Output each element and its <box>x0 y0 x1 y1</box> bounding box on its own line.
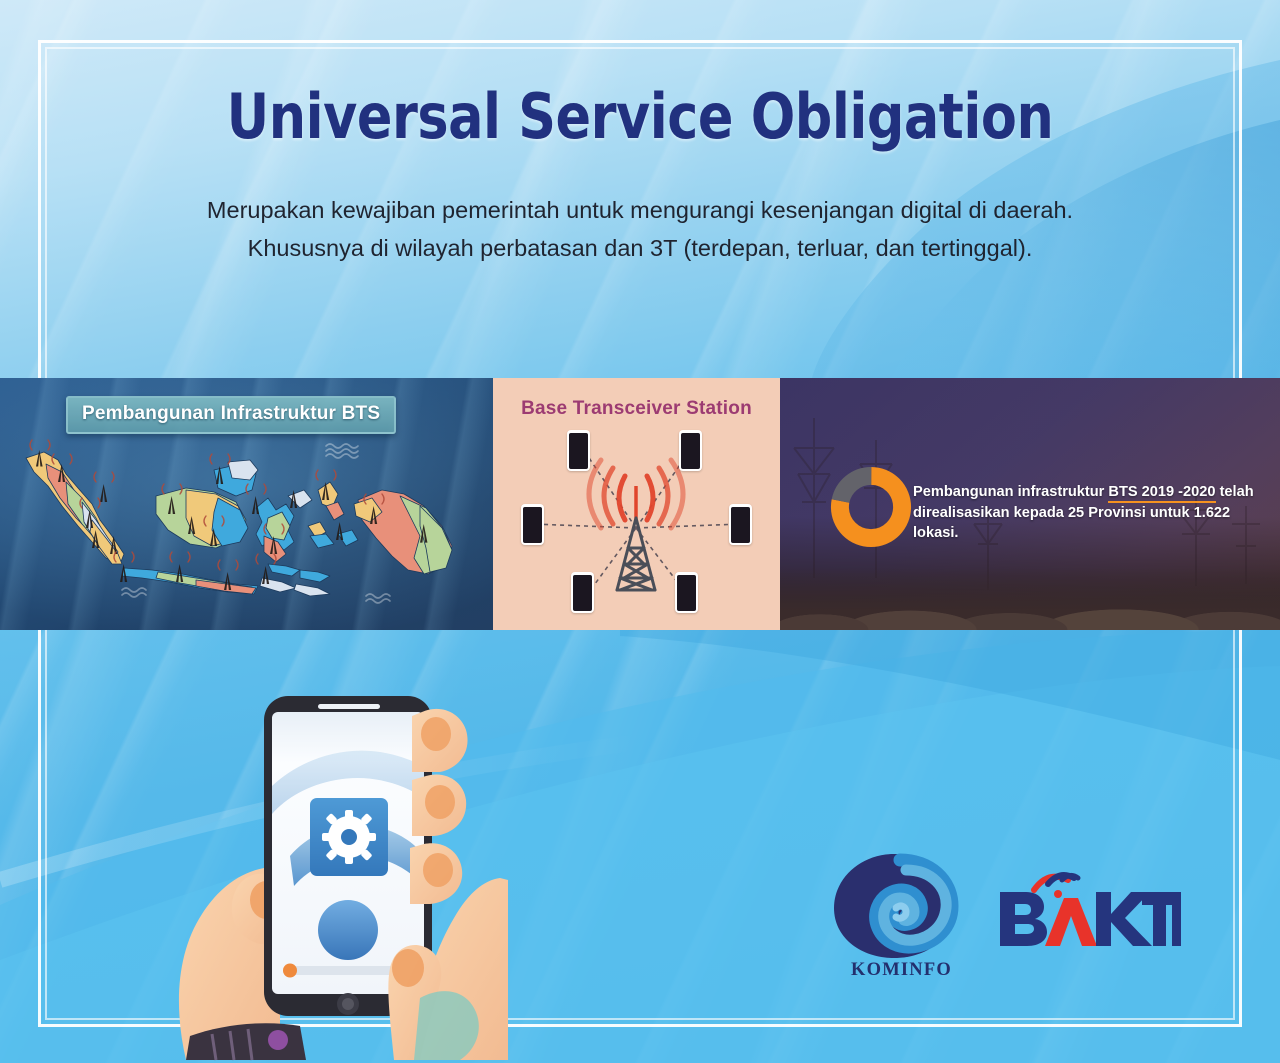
subtitle-line-1: Merupakan kewajiban pemerintah untuk men… <box>0 191 1280 229</box>
watch-face <box>268 1030 288 1050</box>
finger-nail <box>423 853 453 887</box>
donut-chart-svg <box>830 466 912 548</box>
slider-handle <box>283 964 297 978</box>
map-title-label: Pembangunan Infrastruktur BTS <box>66 396 396 434</box>
stat-text-highlight: BTS 2019 -2020 <box>1108 484 1215 503</box>
kominfo-logo <box>826 852 976 962</box>
subtitle-line-2: Khususnya di wilayah perbatasan dan 3T (… <box>0 229 1280 267</box>
finger-nail <box>421 717 451 751</box>
bakti-letter-i <box>1172 892 1181 946</box>
kominfo-wordmark: KOMINFO <box>834 960 969 981</box>
bakti-letter-b <box>1000 892 1047 946</box>
treeline-silhouette <box>780 568 1280 630</box>
bakti-logo <box>996 868 1181 948</box>
phone-icon <box>571 572 594 613</box>
poster-subtitle: Merupakan kewajiban pemerintah untuk men… <box>0 191 1280 267</box>
bts-stat-text: Pembangunan infrastruktur BTS 2019 -2020… <box>913 482 1258 544</box>
phone-speaker <box>318 704 380 709</box>
hand-holding-phone-illustration <box>168 668 508 1063</box>
poster-canvas: Universal Service Obligation Merupakan k… <box>0 0 1280 1063</box>
logo-bar: KOMINFO <box>818 852 1198 992</box>
bakti-signal-icon <box>1034 875 1078 898</box>
panel-bts-statistics: Pembangunan infrastruktur BTS 2019 -2020… <box>780 378 1280 630</box>
phone-icon <box>729 504 752 545</box>
poster-header: Universal Service Obligation Merupakan k… <box>0 84 1280 267</box>
stat-text-part1: Pembangunan infrastruktur <box>913 484 1108 500</box>
donut-chart <box>830 466 912 553</box>
page-title: Universal Service Obligation <box>38 84 1241 149</box>
finger-nail <box>425 785 455 819</box>
sleeve <box>414 991 479 1060</box>
index-finger-nail <box>392 949 424 987</box>
image-strip: Pembangunan Infrastruktur BTS Base Trans… <box>0 378 1280 630</box>
donut-slice-sisa <box>840 476 902 538</box>
panel-infrastructure-map: Pembangunan Infrastruktur BTS <box>0 378 493 630</box>
gear-icon <box>322 810 376 864</box>
phone-icon <box>567 430 590 471</box>
bakti-letter-a <box>1045 898 1097 946</box>
phone-icon <box>521 504 544 545</box>
phone-icon <box>675 572 698 613</box>
panel-base-transceiver-station: Base Transceiver Station <box>493 378 780 630</box>
phone-icon <box>679 430 702 471</box>
